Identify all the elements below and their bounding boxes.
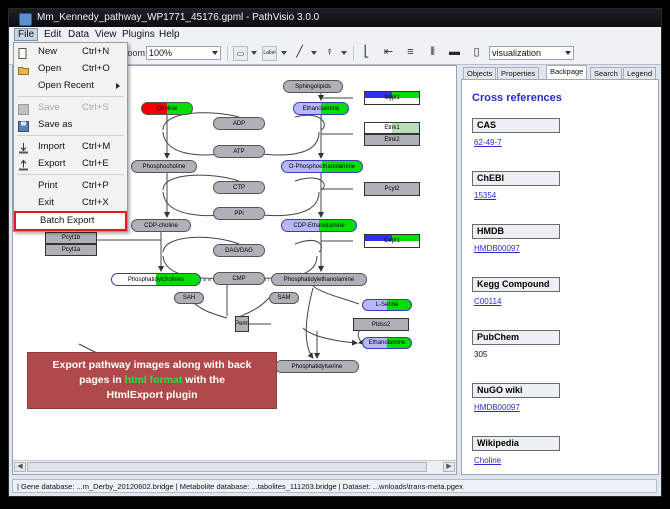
chevron-down-icon xyxy=(212,51,218,55)
window-title-bar: Mm_Kennedy_pathway_WP1771_45176.gpml - P… xyxy=(9,9,661,27)
line-icon[interactable]: ╱ xyxy=(292,46,307,61)
menu-item-help[interactable]: Help xyxy=(156,29,183,40)
tab-legend[interactable]: Legend xyxy=(623,67,656,79)
cross-reference-link[interactable]: HMDB00097 xyxy=(474,244,520,253)
pathway-node-label: O-Phosphoethanolamine xyxy=(289,164,355,170)
shape-dropdown-icon[interactable] xyxy=(341,51,347,55)
file-menu-item-new[interactable]: New Ctrl+N xyxy=(14,43,127,60)
pathway-node-label: ATP xyxy=(233,149,244,155)
pathway-node[interactable]: Sphingolipids xyxy=(283,80,343,93)
menu-item-edit[interactable]: Edit xyxy=(41,29,64,40)
pathway-node-label: CDP-choline xyxy=(144,223,178,229)
pathway-node-label: PPi xyxy=(234,211,243,217)
pathway-node[interactable]: SAM xyxy=(269,292,299,304)
pathway-node[interactable]: Phosphocholine xyxy=(131,160,197,173)
callout-line-2-after: with the xyxy=(182,374,225,386)
file-menu-accel: Ctrl+E xyxy=(82,158,109,169)
distribute-vertical-icon[interactable]: ≡ xyxy=(403,46,418,61)
callout-highlight: html format xyxy=(125,374,183,386)
pathway-node-label: Ethanolamine xyxy=(369,340,406,346)
save-as-icon xyxy=(18,119,29,130)
pathway-gene-label: Ptdss2 xyxy=(372,322,390,328)
new-document-icon xyxy=(18,46,29,57)
pathway-node[interactable]: O-Phosphoethanolamine xyxy=(281,160,363,173)
align-left-icon[interactable]: ⇤ xyxy=(381,46,396,61)
file-menu-accel: Ctrl+O xyxy=(82,63,110,74)
cross-reference-header: CAS xyxy=(472,118,560,133)
callout-line-2-before: pages in xyxy=(79,374,125,386)
file-menu-accel: Ctrl+S xyxy=(82,102,109,113)
menu-divider xyxy=(17,174,124,175)
folder-open-icon xyxy=(18,63,29,74)
file-menu-label: New xyxy=(38,46,57,57)
cross-reference-header: HMDB xyxy=(472,224,560,239)
scroll-left-arrow-icon[interactable]: ◀ xyxy=(14,462,26,472)
pathway-gene-label: Etnk2 xyxy=(384,137,399,143)
file-menu-item-open[interactable]: Open Ctrl+O xyxy=(14,60,127,77)
cross-reference-header: PubChem xyxy=(472,330,560,345)
pathway-node[interactable]: Phosphatidylcholines xyxy=(111,273,201,286)
pathway-node[interactable]: SAH xyxy=(174,292,204,304)
visualization-combo[interactable]: visualization xyxy=(489,46,574,60)
cross-references-title: Cross references xyxy=(472,92,562,104)
cross-reference-header: ChEBI xyxy=(472,171,560,186)
file-menu-accel: Ctrl+P xyxy=(82,180,109,191)
visualization-value: visualization xyxy=(492,48,541,58)
file-menu-label: Print xyxy=(38,180,58,191)
pathway-gene-label: Etnk1 xyxy=(384,125,399,131)
pathway-gene-node[interactable]: Pcyt2 xyxy=(364,182,420,196)
pathway-node[interactable]: ADP xyxy=(213,117,265,130)
file-menu-label: Export xyxy=(38,158,65,169)
callout-line-2: pages in html format with the xyxy=(28,373,276,388)
submenu-arrow-icon xyxy=(116,83,120,89)
cross-reference-link[interactable]: 15354 xyxy=(474,191,496,200)
pathway-node[interactable]: Choline xyxy=(141,102,193,115)
file-menu-item-import[interactable]: Import Ctrl+M xyxy=(14,138,127,155)
file-menu-accel: Ctrl+M xyxy=(82,141,110,152)
common-width-icon[interactable]: ▬ xyxy=(447,46,462,61)
export-icon xyxy=(18,158,29,169)
import-icon xyxy=(18,141,29,152)
pathway-gene-label: Sgpl1 xyxy=(384,95,399,101)
cross-reference-link[interactable]: Choline xyxy=(474,456,501,465)
shape-icon[interactable]: ⍒ xyxy=(322,46,337,61)
pathway-node[interactable]: PPi xyxy=(213,207,265,220)
file-menu-item-print[interactable]: Print Ctrl+P xyxy=(14,177,127,194)
pathway-node-label: CMP xyxy=(232,276,245,282)
tab-backpage[interactable]: Backpage xyxy=(546,65,587,79)
cross-reference-header: Wikipedia xyxy=(472,436,560,451)
file-menu-item-save: Save Ctrl+S xyxy=(14,99,127,116)
pathway-node[interactable]: DAG/DAG xyxy=(213,244,265,257)
pathway-node-label: Phosphatidylethanolamine xyxy=(284,277,354,283)
menu-bar: File Edit Data View Plugins Help xyxy=(9,27,661,43)
pathway-node[interactable]: CMP xyxy=(213,272,265,285)
pathway-node-label: SAM xyxy=(277,295,290,301)
status-bar: | Gene database: ...m_Derby_20120602.bri… xyxy=(12,479,657,493)
pathway-node-label: ADP xyxy=(233,121,245,127)
scroll-right-arrow-icon[interactable]: ▶ xyxy=(443,462,455,472)
file-menu-accel: Ctrl+X xyxy=(82,197,109,208)
menu-item-plugins[interactable]: Plugins xyxy=(119,29,158,40)
file-menu-label: Open xyxy=(38,63,61,74)
pathway-node-label: L-Serine xyxy=(376,302,399,308)
align-top-icon[interactable]: ⎣ xyxy=(359,46,374,61)
common-height-icon[interactable]: ▯ xyxy=(469,46,484,61)
tab-objects[interactable]: Objects xyxy=(463,67,496,79)
pathway-node-label: CTP xyxy=(233,185,245,191)
pathway-node-label: Ethanolamine xyxy=(303,106,340,112)
pathway-gene-node[interactable]: Pcyt1b xyxy=(45,232,97,244)
cross-reference-header: Kegg Compound xyxy=(472,277,560,292)
cross-reference-link[interactable]: 62-49-7 xyxy=(474,138,502,147)
zoom-combo[interactable]: 100% xyxy=(146,46,221,60)
datanode-icon[interactable]: ▭ xyxy=(233,46,248,61)
pathway-node-label: Phosphatidylserine xyxy=(292,364,343,370)
pathway-node-label: Phosphocholine xyxy=(143,164,186,170)
file-menu-accel: Ctrl+N xyxy=(82,46,109,57)
menu-item-data[interactable]: Data xyxy=(65,29,92,40)
pathway-node[interactable]: ATP xyxy=(213,145,265,158)
pathway-gene-label: Pcyt2 xyxy=(384,186,399,192)
file-menu-label: Batch Export xyxy=(40,215,94,226)
scrollbar-thumb[interactable] xyxy=(27,462,427,472)
pathway-gene-label: Pemt xyxy=(235,321,249,327)
file-menu-item-save-as[interactable]: Save as xyxy=(14,116,127,133)
zoom-value: 100% xyxy=(149,48,172,58)
datanode-dropdown-icon[interactable] xyxy=(251,51,257,55)
pathway-node[interactable]: CTP xyxy=(213,181,265,194)
panel-tab-strip: Objects Properties Backpage Search Legen… xyxy=(461,65,659,79)
pathway-gene-node[interactable]: Pcyt1a xyxy=(45,244,97,256)
app-icon xyxy=(19,13,32,26)
callout-line-3: HtmlExport plugin xyxy=(28,388,276,403)
pathway-node-label: Sphingolipids xyxy=(295,84,331,90)
chevron-down-icon xyxy=(565,51,571,55)
pathway-node[interactable]: CDP-choline xyxy=(131,219,191,232)
pathway-gene-node[interactable]: Etnk2 xyxy=(364,134,420,146)
callout-line-1: Export pathway images along with back xyxy=(28,358,276,373)
pathway-node[interactable]: CDP-Ethanolamine xyxy=(281,219,357,232)
menu-item-file[interactable]: File xyxy=(14,28,38,41)
file-menu-label: Save as xyxy=(38,119,72,130)
file-menu-item-batch-export[interactable]: Batch Export xyxy=(14,211,127,231)
pathway-node[interactable]: Ethanolamine xyxy=(362,337,412,349)
pathway-gene-node[interactable]: Etnk1 xyxy=(364,122,420,134)
label-dropdown-icon[interactable] xyxy=(281,51,287,55)
pathway-gene-node[interactable]: Sgpl1 xyxy=(364,91,420,105)
pathway-node-label: Choline xyxy=(157,106,177,112)
file-menu-item-exit[interactable]: Exit Ctrl+X xyxy=(14,194,127,211)
file-menu-label: Open Recent xyxy=(38,80,94,91)
file-menu-label: Exit xyxy=(38,197,54,208)
pathway-gene-node[interactable]: Ptdss2 xyxy=(353,318,409,331)
application-window: Mm_Kennedy_pathway_WP1771_45176.gpml - P… xyxy=(8,8,662,497)
backpage-panel: Cross references CAS62-49-7ChEBI15354HMD… xyxy=(461,79,659,475)
tab-properties[interactable]: Properties xyxy=(497,67,539,79)
callout-annotation: Export pathway images along with back pa… xyxy=(27,352,277,409)
menu-item-view[interactable]: View xyxy=(92,29,120,40)
file-menu-label: Import xyxy=(38,141,65,152)
pathway-gene-label: Pcyt1b xyxy=(62,235,80,241)
pathway-node-label: Phosphatidylcholines xyxy=(128,277,184,283)
menu-divider xyxy=(17,96,124,97)
cross-reference-header: NuGO wiki xyxy=(472,383,560,398)
pathway-gene-node[interactable]: Cept1 xyxy=(364,234,420,248)
pathway-gene-node[interactable]: Pemt xyxy=(235,316,249,332)
pathway-node-label: SAH xyxy=(183,295,195,301)
side-panel: Objects Properties Backpage Search Legen… xyxy=(461,65,659,475)
file-menu-item-export[interactable]: Export Ctrl+E xyxy=(14,155,127,172)
pathway-node[interactable]: Ethanolamine xyxy=(293,102,349,115)
tab-search[interactable]: Search xyxy=(590,67,622,79)
pathway-node[interactable]: L-Serine xyxy=(362,299,412,311)
pathway-gene-label: Pcyt1a xyxy=(62,247,80,253)
pathway-node-label: DAG/DAG xyxy=(225,248,253,254)
pathway-node-label: CDP-Ethanolamine xyxy=(293,223,344,229)
window-title: Mm_Kennedy_pathway_WP1771_45176.gpml - P… xyxy=(37,12,319,23)
menu-divider xyxy=(17,135,124,136)
pathway-node[interactable]: Phosphatidylserine xyxy=(275,360,359,373)
file-menu-item-open-recent[interactable]: Open Recent xyxy=(14,77,127,94)
file-menu-label: Save xyxy=(38,102,60,113)
file-menu-dropdown[interactable]: New Ctrl+N Open Ctrl+O Open Recent Save … xyxy=(13,42,128,232)
cross-reference-link[interactable]: C00114 xyxy=(474,297,501,306)
label-icon[interactable]: Label xyxy=(262,46,277,61)
screenshot-frame: Mm_Kennedy_pathway_WP1771_45176.gpml - P… xyxy=(0,0,670,509)
canvas-horizontal-scrollbar[interactable]: ◀ ▶ xyxy=(13,460,456,474)
pathway-gene-label: Cept1 xyxy=(384,238,400,244)
cross-reference-value: 305 xyxy=(474,350,487,359)
distribute-horizontal-icon[interactable]: ⦀ xyxy=(425,46,440,61)
line-dropdown-icon[interactable] xyxy=(311,51,317,55)
pathway-node[interactable]: Phosphatidylethanolamine xyxy=(271,273,367,286)
cross-reference-link[interactable]: HMDB00097 xyxy=(474,403,520,412)
save-disk-icon xyxy=(18,102,29,113)
